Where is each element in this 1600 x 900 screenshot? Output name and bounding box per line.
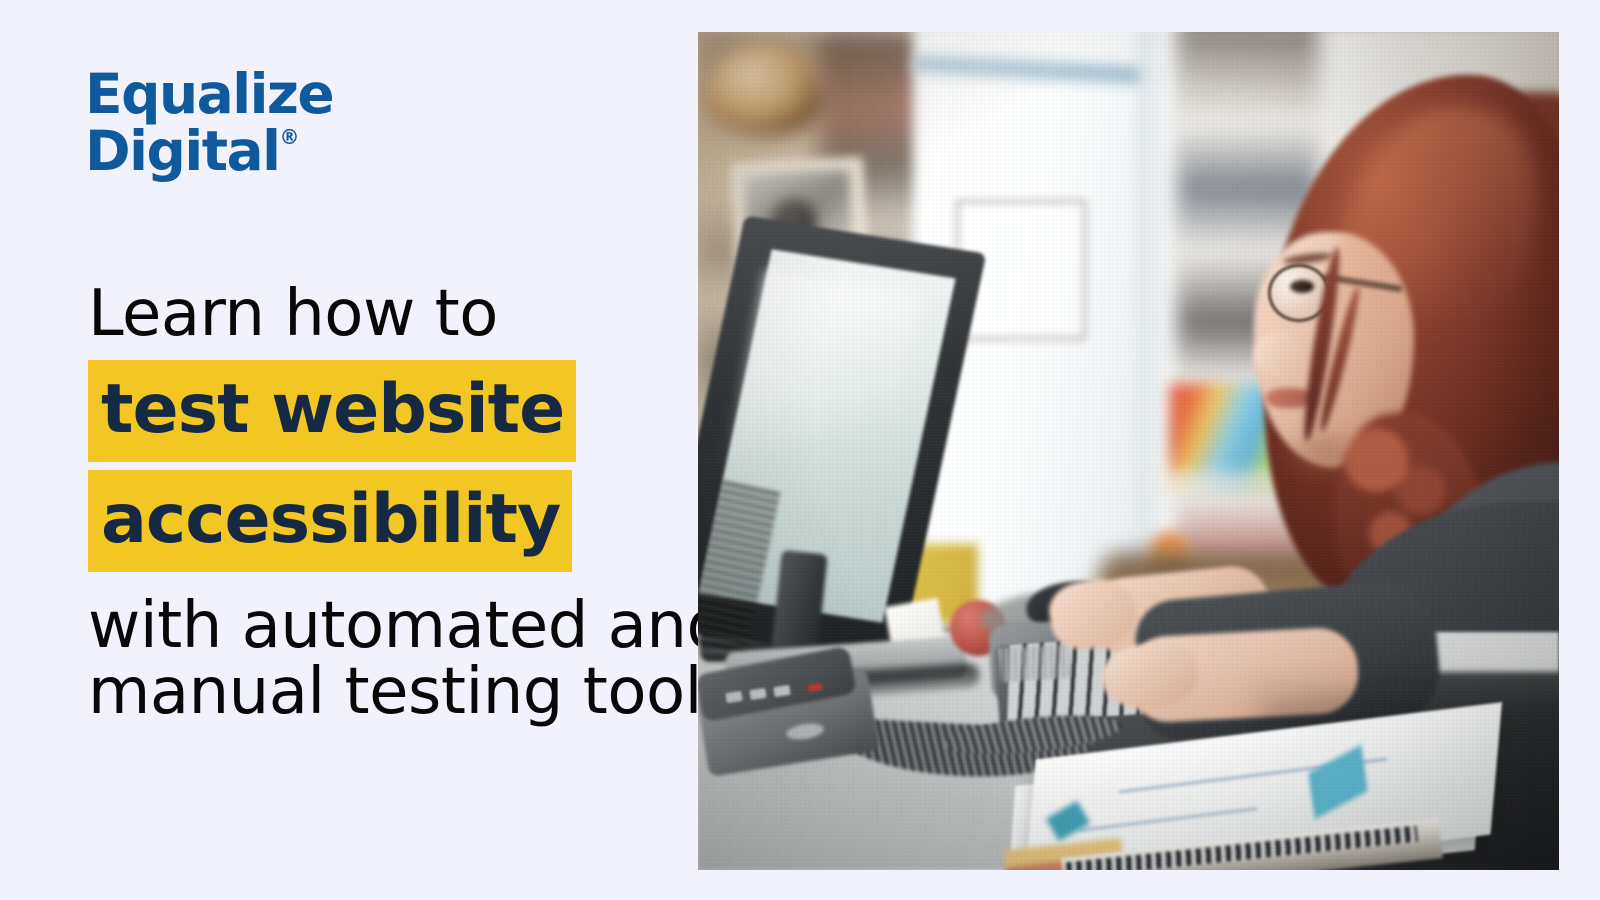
promo-banner: Equalize Digital® Learn how to test webs…: [0, 0, 1600, 900]
headline-line-5: manual testing tools: [88, 660, 698, 724]
headline-highlight-test-website: test website: [88, 360, 576, 462]
page-title: Learn how to test website accessibility …: [88, 282, 698, 724]
hero-photo: [698, 32, 1559, 870]
headline-highlight-accessibility: accessibility: [88, 470, 572, 572]
text-column: Equalize Digital® Learn how to test webs…: [0, 0, 698, 900]
keyboard-brand-mark: [999, 644, 1071, 683]
logo-line-equalize: Equalize: [85, 68, 333, 121]
logo-word-digital: Digital: [85, 119, 280, 183]
person-eye: [1290, 280, 1314, 293]
logo-line-digital: Digital®: [85, 125, 333, 178]
headline-highlight-wrap-1: test website: [88, 360, 698, 470]
registered-trademark-icon: ®: [280, 125, 300, 149]
equalize-digital-logo[interactable]: Equalize Digital®: [85, 68, 333, 178]
headline-line-4: with automated and: [88, 594, 698, 658]
headline-highlight-wrap-2: accessibility: [88, 470, 698, 594]
person-nose: [1254, 332, 1298, 378]
headline-line-1: Learn how to: [88, 282, 698, 346]
